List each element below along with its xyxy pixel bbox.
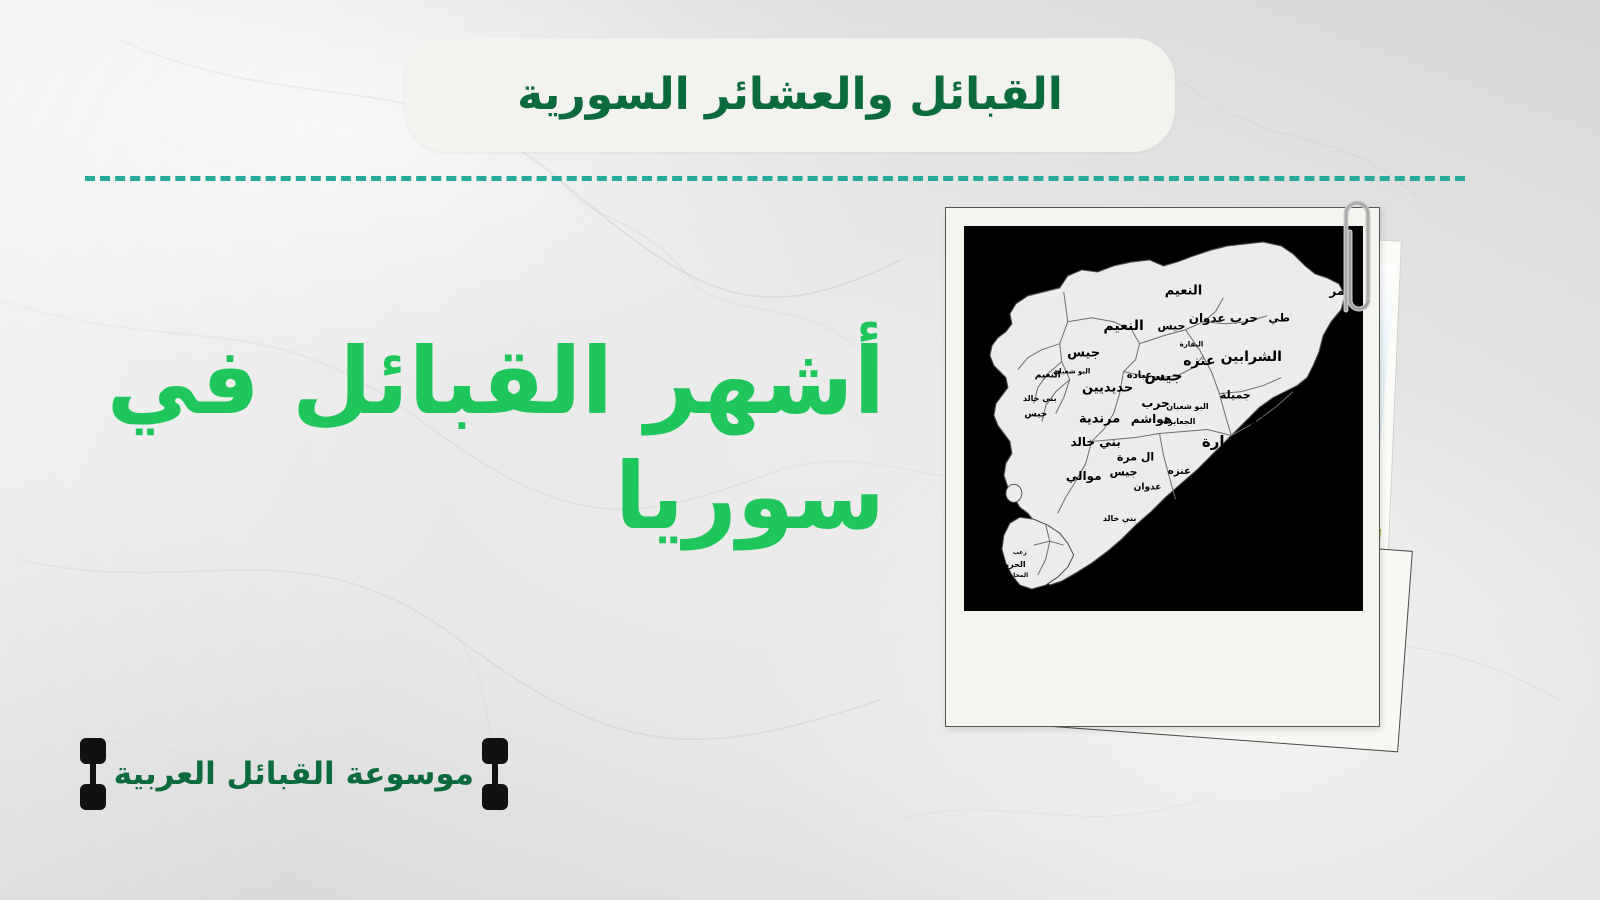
brand-logo: موسوعة القبائل العربية [140,735,510,813]
headline: أشهر القبائل في سوريا [55,330,885,548]
dashed-divider [85,176,1465,181]
poster-canvas: القبائل والعشائر السورية أشهر القبائل في… [0,0,1600,900]
brand-label: موسوعة القبائل العربية [108,759,480,790]
header-pill: القبائل والعشائر السورية [405,38,1175,152]
headline-line-1: أشهر القبائل في [55,330,885,433]
i-beam-bracket-right-icon [480,738,510,810]
syria-tribes-map-photo: النعيمطيشمرحرب عدوانالنعيمجيسالشرابينعنز… [945,207,1380,727]
page-title: القبائل والعشائر السورية [517,73,1063,117]
headline-line-2: سوريا [55,445,885,548]
photo-stack: النعيمطيشمرحرب عدوانالنعيمجيسالشرابينعنز… [930,190,1470,770]
paperclip-icon [1332,192,1378,324]
syria-map-shape [964,226,1363,611]
i-beam-bracket-left-icon [78,738,108,810]
syria-tribes-map: النعيمطيشمرحرب عدوانالنعيمجيسالشرابينعنز… [964,226,1363,611]
